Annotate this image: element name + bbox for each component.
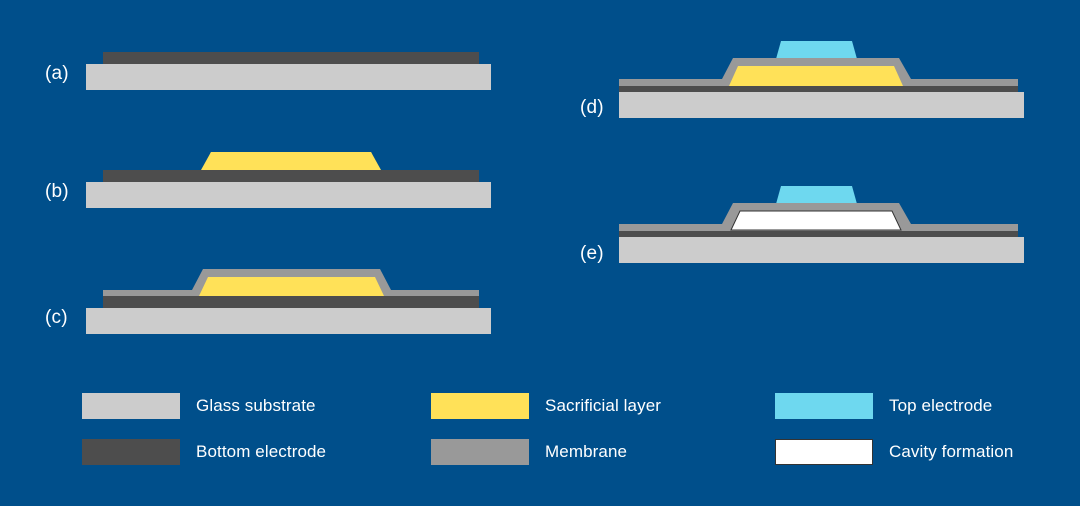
panel-e-cavity-formation (731, 211, 901, 230)
panel-b-bottom-electrode (103, 170, 479, 182)
panel-c-graphic (86, 269, 491, 334)
panel-label-d: (d) (580, 97, 604, 119)
panel-c-sacrificial-layer (199, 277, 384, 296)
legend-item-glass-substrate: Glass substrate (82, 393, 316, 419)
legend-item-sacrificial-layer: Sacrificial layer (431, 393, 661, 419)
panel-d-top-electrode (776, 41, 857, 59)
legend-swatch-sacrificial-layer (431, 393, 529, 419)
panel-label-b: (b) (45, 181, 69, 203)
legend-label-cavity-formation: Cavity formation (889, 442, 1013, 462)
panel-a-glass-substrate (86, 64, 491, 90)
panel-label-e: (e) (580, 243, 604, 265)
panel-e-graphic (619, 186, 1024, 263)
legend-label-glass-substrate: Glass substrate (196, 396, 316, 416)
legend-item-top-electrode: Top electrode (775, 393, 992, 419)
panel-a-bottom-electrode (103, 52, 479, 64)
legend-item-bottom-electrode: Bottom electrode (82, 439, 326, 465)
legend-item-membrane: Membrane (431, 439, 627, 465)
panel-a-graphic (86, 52, 491, 90)
panel-e-glass-substrate (619, 237, 1024, 263)
process-cross-sections (0, 0, 1080, 506)
panel-d-graphic (619, 41, 1024, 118)
legend-label-top-electrode: Top electrode (889, 396, 992, 416)
panel-d-glass-substrate (619, 92, 1024, 118)
legend-swatch-glass-substrate (82, 393, 180, 419)
legend-item-cavity-formation: Cavity formation (775, 439, 1013, 465)
panel-b-sacrificial-layer-front (201, 152, 381, 170)
panel-d-sacrificial-layer (729, 66, 903, 86)
panel-b-glass-substrate (86, 182, 491, 208)
process-flow-figure: (a) (b) (c) (d) (e) Glass substrate Bott… (0, 0, 1080, 506)
legend-label-sacrificial-layer: Sacrificial layer (545, 396, 661, 416)
legend-swatch-cavity-formation (775, 439, 873, 465)
panel-c-bottom-electrode (103, 296, 479, 308)
panel-label-c: (c) (45, 307, 68, 329)
legend-label-bottom-electrode: Bottom electrode (196, 442, 326, 462)
legend-swatch-top-electrode (775, 393, 873, 419)
panel-c-glass-substrate (86, 308, 491, 334)
panel-e-top-electrode (776, 186, 857, 204)
legend-swatch-bottom-electrode (82, 439, 180, 465)
legend-label-membrane: Membrane (545, 442, 627, 462)
panel-label-a: (a) (45, 63, 69, 85)
legend-swatch-membrane (431, 439, 529, 465)
panel-b-graphic (86, 152, 491, 208)
